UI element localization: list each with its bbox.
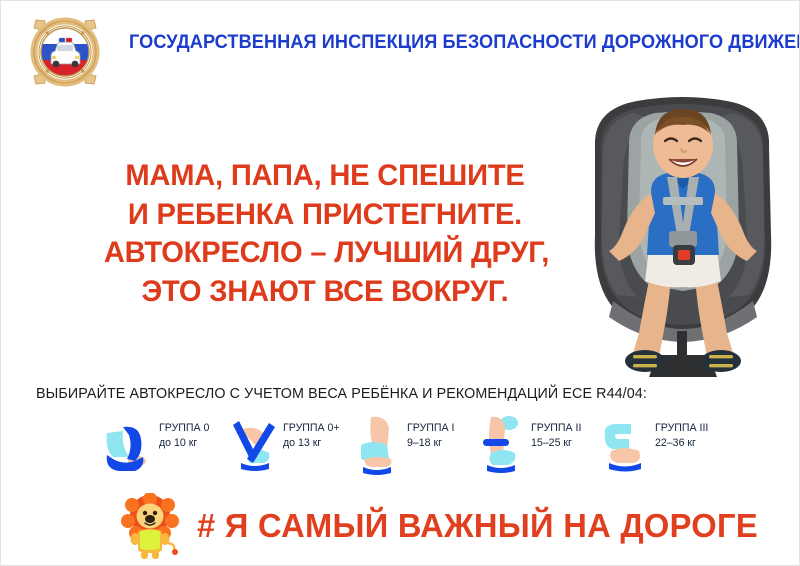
hashtag-slogan: # Я САМЫЙ ВАЖНЫЙ НА ДОРОГЕ xyxy=(197,506,766,546)
group-name: ГРУППА 0 xyxy=(159,421,209,436)
car-seat-group-1-icon xyxy=(347,415,403,479)
group-name: ГРУППА III xyxy=(655,421,708,436)
group-weight: 22–36 кг xyxy=(655,436,708,451)
slogan-line-4: ЭТО ЗНАЮТ ВСЕ ВОКРУГ. xyxy=(104,273,546,312)
slogan-line-1: МАМА, ПАПА, НЕ СПЕШИТЕ xyxy=(104,157,546,196)
group-label: ГРУППА 0 до 10 кг xyxy=(155,415,209,450)
group-name: ГРУППА I xyxy=(407,421,454,436)
lion-mascot-icon xyxy=(114,493,186,561)
group-label: ГРУППА I 9–18 кг xyxy=(403,415,454,450)
slogan-line-3: АВТОКРЕСЛО – ЛУЧШИЙ ДРУГ, xyxy=(104,234,546,273)
car-seat-group-0-icon xyxy=(99,415,155,479)
car-seat-group-list: ГРУППА 0 до 10 кг ГРУППА 0+ до 13 кг xyxy=(99,415,719,481)
car-seat-group-3-icon xyxy=(595,415,651,479)
group-label: ГРУППА II 15–25 кг xyxy=(527,415,581,450)
gibdd-emblem-icon xyxy=(19,12,111,92)
child-in-car-seat-photo xyxy=(567,85,799,377)
group-weight: до 10 кг xyxy=(159,436,209,451)
car-seat-group-0plus-icon xyxy=(223,415,279,479)
slogan-line-2: И РЕБЕНКА ПРИСТЕГНИТЕ. xyxy=(104,196,546,235)
group-name: ГРУППА II xyxy=(531,421,581,436)
instruction-line: ВЫБИРАЙТЕ АВТОКРЕСЛО С УЧЕТОМ ВЕСА РЕБЁН… xyxy=(36,386,761,402)
group-weight: 15–25 кг xyxy=(531,436,581,451)
main-slogan: МАМА, ПАПА, НЕ СПЕШИТЕ И РЕБЕНКА ПРИСТЕГ… xyxy=(104,157,546,311)
car-seat-group-2-icon xyxy=(471,415,527,479)
car-seat-group-item: ГРУППА 0 до 10 кг xyxy=(99,415,223,479)
group-weight: 9–18 кг xyxy=(407,436,454,451)
group-name: ГРУППА 0+ xyxy=(283,421,340,436)
group-label: ГРУППА 0+ до 13 кг xyxy=(279,415,340,450)
group-weight: до 13 кг xyxy=(283,436,340,451)
poster-header: ГОСУДАРСТВЕННАЯ ИНСПЕКЦИЯ БЕЗОПАСНОСТИ Д… xyxy=(1,1,800,97)
car-seat-group-item: ГРУППА II 15–25 кг xyxy=(471,415,595,479)
poster-root: ГОСУДАРСТВЕННАЯ ИНСПЕКЦИЯ БЕЗОПАСНОСТИ Д… xyxy=(0,0,800,566)
group-label: ГРУППА III 22–36 кг xyxy=(651,415,708,450)
car-seat-group-item: ГРУППА III 22–36 кг xyxy=(595,415,719,479)
car-seat-group-item: ГРУППА I 9–18 кг xyxy=(347,415,471,479)
page-title: ГОСУДАРСТВЕННАЯ ИНСПЕКЦИЯ БЕЗОПАСНОСТИ Д… xyxy=(129,31,743,53)
car-seat-group-item: ГРУППА 0+ до 13 кг xyxy=(223,415,347,479)
